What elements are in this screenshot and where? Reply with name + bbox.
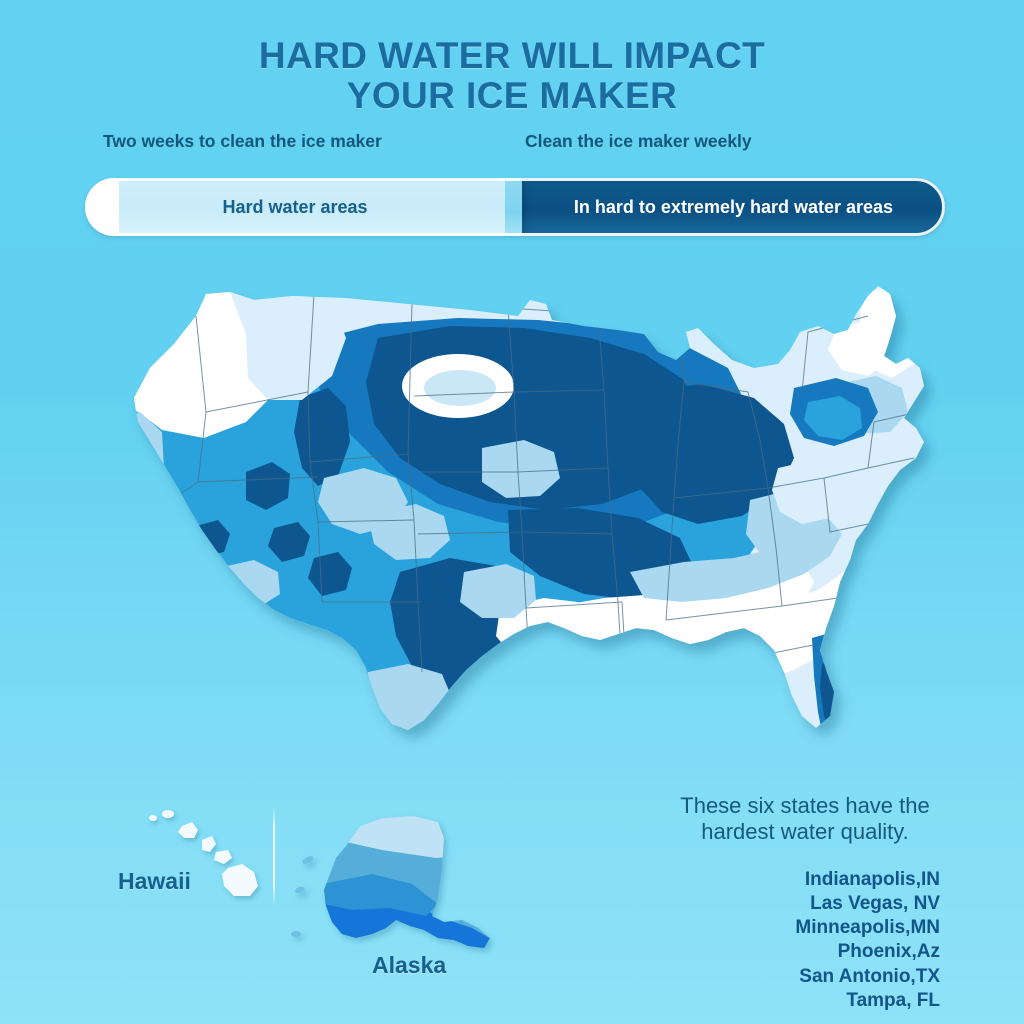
legend-label-left: Hard water areas	[85, 178, 505, 236]
infographic-canvas: HARD WATER WILL IMPACT YOUR ICE MAKER Tw…	[0, 0, 1024, 1024]
alaska-inset-map[interactable]	[286, 812, 516, 972]
list-item: Las Vegas, NV	[660, 892, 940, 916]
hardest-water-note: These six states have the hardest water …	[670, 793, 940, 846]
alaska-label: Alaska	[372, 952, 446, 979]
caption-right: Clean the ice maker weekly	[525, 131, 752, 152]
list-item: Minneapolis,MN	[660, 916, 940, 940]
title-line-2: YOUR ICE MAKER	[0, 76, 1024, 116]
hawaii-label: Hawaii	[118, 868, 191, 895]
hardest-water-city-list: Indianapolis,IN Las Vegas, NV Minneapoli…	[660, 868, 940, 1013]
note-line-2: hardest water quality.	[670, 819, 940, 845]
us-hardness-map[interactable]	[78, 272, 964, 772]
hardness-legend-bar[interactable]: Hard water areas In hard to extremely ha…	[85, 178, 945, 236]
list-item: Indianapolis,IN	[660, 868, 940, 892]
legend-segment-transition	[505, 178, 522, 236]
note-line-1: These six states have the	[670, 793, 940, 819]
inset-divider	[273, 806, 275, 906]
legend-captions: Two weeks to clean the ice maker Clean t…	[85, 131, 945, 159]
list-item: Tampa, FL	[660, 989, 940, 1013]
hawaii-inset-map[interactable]	[120, 800, 280, 920]
page-title: HARD WATER WILL IMPACT YOUR ICE MAKER	[0, 36, 1024, 116]
title-line-1: HARD WATER WILL IMPACT	[259, 35, 765, 76]
list-item: Phoenix,Az	[660, 940, 940, 964]
caption-left: Two weeks to clean the ice maker	[103, 131, 382, 152]
list-item: San Antonio,TX	[660, 965, 940, 989]
legend-label-right: In hard to extremely hard water areas	[522, 178, 945, 236]
